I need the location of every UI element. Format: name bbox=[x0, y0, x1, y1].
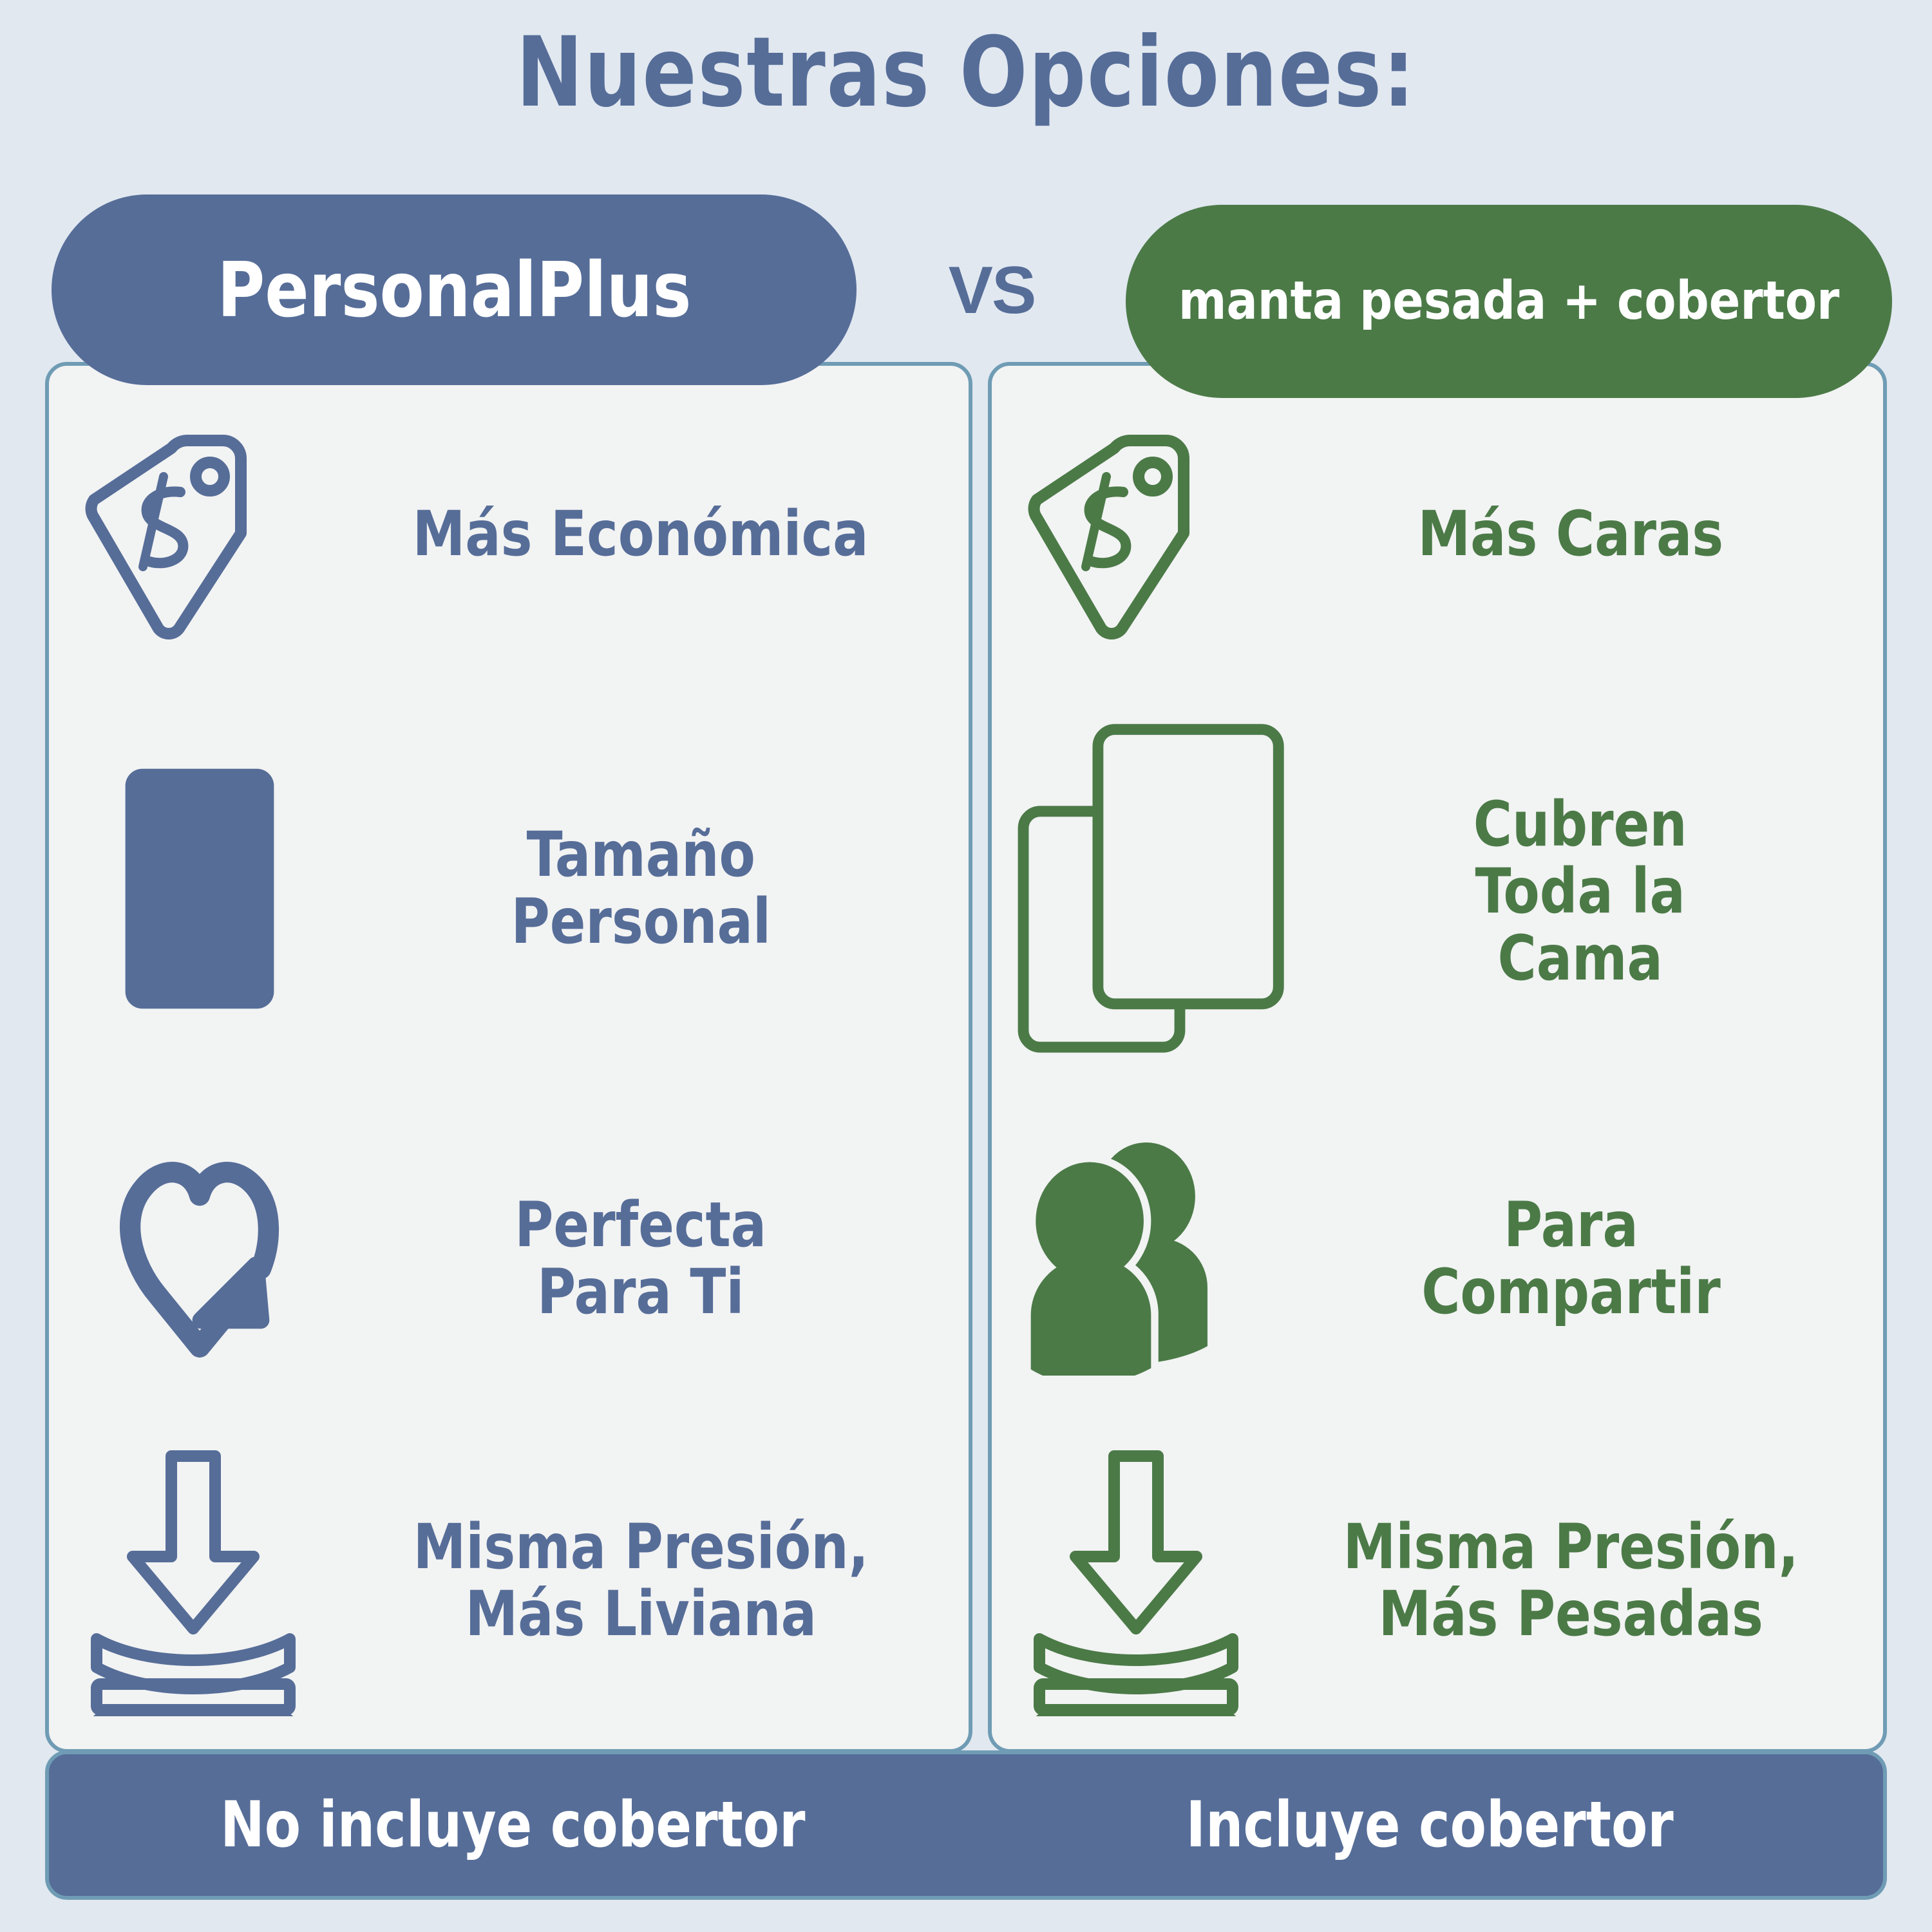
single-blanket-icon bbox=[71, 734, 328, 1043]
feature-row: Cubren Toda la Cama bbox=[1014, 692, 1870, 1092]
double-blanket-icon bbox=[1014, 692, 1291, 1092]
feature-label: Para Compartir bbox=[1271, 1192, 1870, 1325]
option-pill-right-label: manta pesada + cobertor bbox=[1179, 273, 1839, 330]
feature-row: Perfecta Para Ti bbox=[71, 1121, 953, 1397]
option-pill-personalplus: PersonalPlus bbox=[52, 194, 857, 385]
feature-label: Misma Presión, Más Pesadas bbox=[1271, 1514, 1870, 1647]
footer-bar: No incluye cobertor Incluye cobertor bbox=[45, 1750, 1887, 1900]
page-title: Nuestras Opciones: bbox=[77, 24, 1855, 121]
feature-label: Misma Presión, Más Liviana bbox=[328, 1514, 953, 1647]
price-tag-icon bbox=[71, 425, 328, 644]
pressure-arrow-icon bbox=[1014, 1452, 1271, 1710]
footer-right: Incluye cobertor bbox=[976, 1788, 1883, 1862]
feature-label: Cubren Toda la Cama bbox=[1291, 791, 1870, 992]
option-pill-manta-pesada: manta pesada + cobertor bbox=[1126, 205, 1892, 398]
option-pill-left-label: PersonalPlus bbox=[217, 245, 691, 334]
price-tag-icon bbox=[1014, 425, 1271, 644]
feature-label: Más Económica bbox=[328, 501, 953, 568]
footer-left: No incluye cobertor bbox=[49, 1788, 976, 1862]
feature-label: Perfecta Para Ti bbox=[328, 1192, 953, 1325]
feature-row: Más Económica bbox=[71, 425, 953, 644]
feature-row: Para Compartir bbox=[1014, 1121, 1870, 1397]
people-group-icon bbox=[1014, 1130, 1271, 1388]
vs-label: VS bbox=[908, 252, 1075, 329]
infographic-root: Nuestras Opciones: PersonalPlus VS manta… bbox=[0, 0, 1932, 1932]
feature-row: Más Caras bbox=[1014, 425, 1870, 644]
feature-label: Tamaño Personal bbox=[328, 822, 953, 955]
heart-arrow-icon bbox=[71, 1130, 328, 1388]
feature-row: Misma Presión, Más Liviana bbox=[71, 1452, 953, 1710]
feature-row: Tamaño Personal bbox=[71, 721, 953, 1056]
feature-row: Misma Presión, Más Pesadas bbox=[1014, 1452, 1870, 1710]
feature-label: Más Caras bbox=[1271, 501, 1870, 568]
pressure-arrow-icon bbox=[71, 1452, 328, 1710]
